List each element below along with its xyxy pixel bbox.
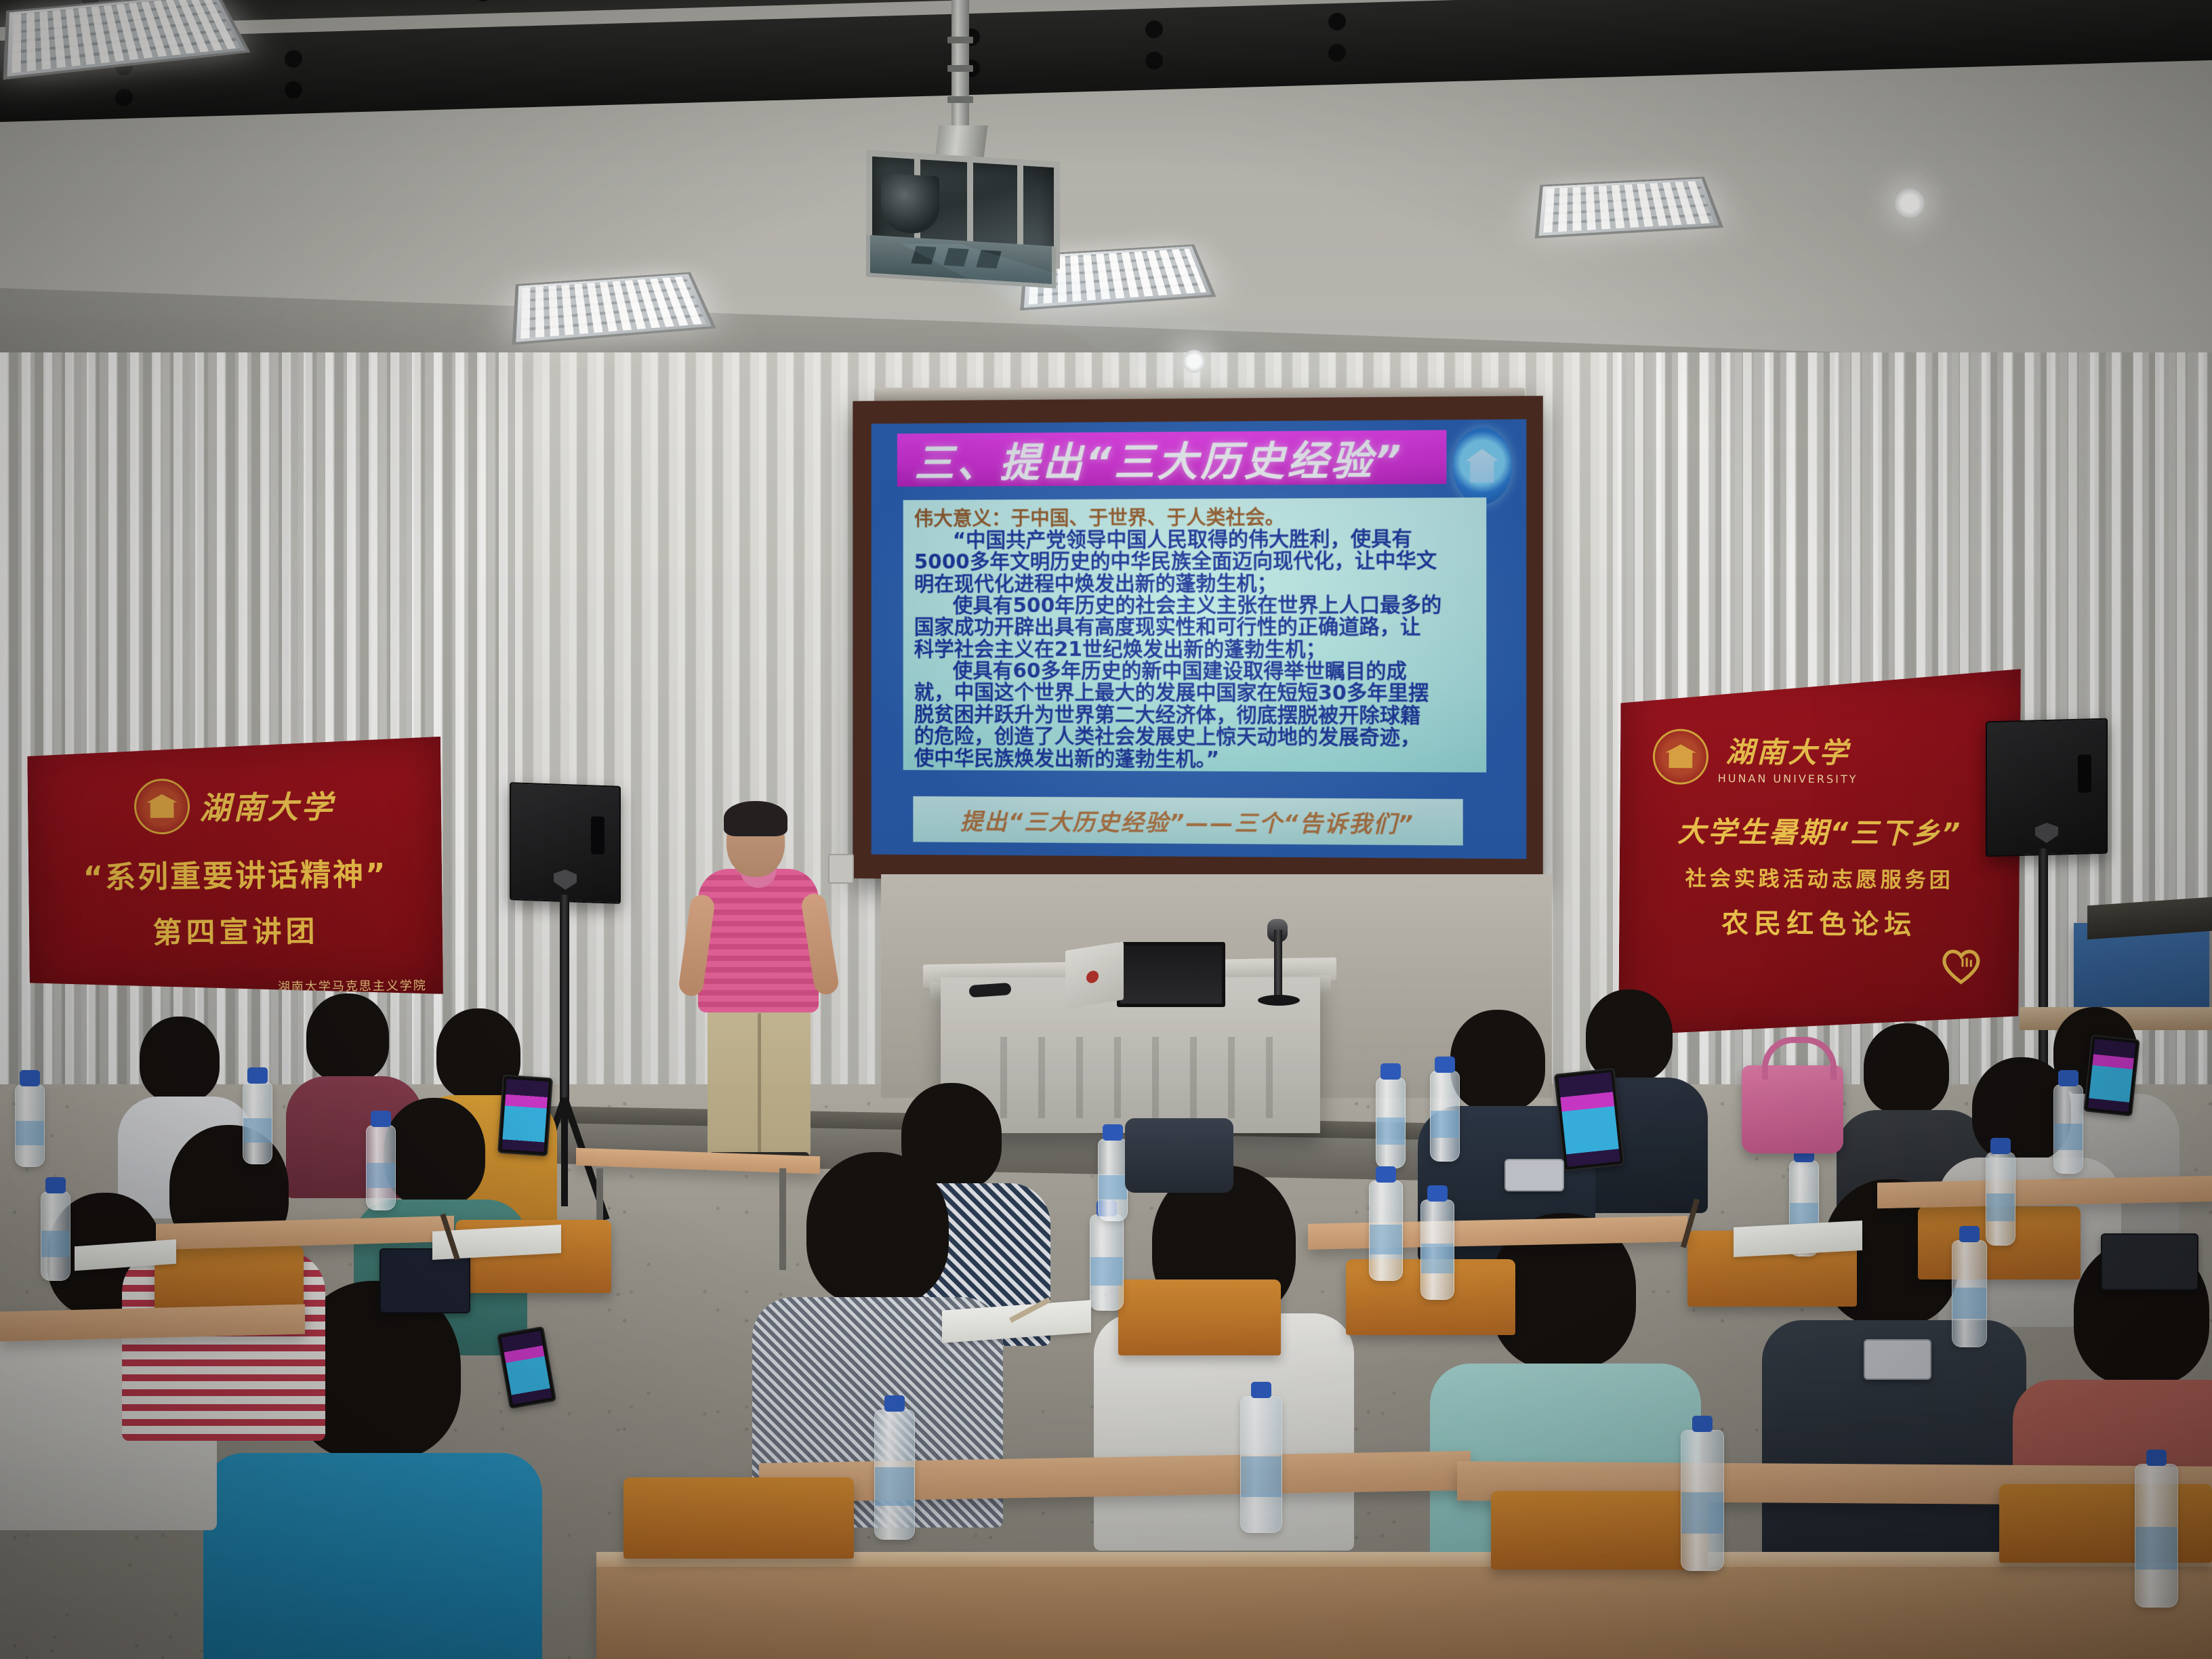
- pa-speaker: [510, 782, 621, 904]
- presenter-trousers: [708, 1004, 811, 1156]
- tripod-leg: [561, 1098, 568, 1206]
- slide-body-line: 科学社会主义在21世纪焕发出新的蓬勃生机；: [914, 639, 1475, 661]
- lecture-chair: [623, 1477, 854, 1559]
- speaker-stand-pole: [560, 895, 569, 1118]
- water-bottle: [1430, 1071, 1460, 1162]
- banner-left-line1: “系列重要讲话精神”: [28, 849, 443, 897]
- smartphone[interactable]: [2083, 1035, 2140, 1117]
- banner-right-line1: 大学生暑期“三下乡”: [1620, 808, 2020, 853]
- water-bottle: [15, 1084, 45, 1167]
- slide-body: 伟大意义：于中国、于世界、于人类社会。 “中国共产党领导中国人民取得的伟大胜利，…: [903, 497, 1486, 772]
- projected-slide: 三、提出“三大历史经验” 伟大意义：于中国、于世界、于人类社会。 “中国共产党领…: [872, 419, 1527, 859]
- slide-body-line: 5000多年文明历史的中华民族全面迈向现代化，让中华文: [914, 550, 1475, 573]
- water-bottle: [1240, 1396, 1282, 1533]
- water-bottle: [41, 1191, 70, 1281]
- tablet-device[interactable]: [2101, 1233, 2198, 1290]
- presenter-hair: [724, 801, 787, 836]
- smartphone[interactable]: [497, 1075, 553, 1157]
- smartphone[interactable]: [1504, 1159, 1564, 1191]
- volunteer-heart-hand-icon: [1939, 943, 1984, 985]
- projection-screen: 三、提出“三大历史经验” 伟大意义：于中国、于世界、于人类社会。 “中国共产党领…: [853, 396, 1543, 884]
- ceiling-downlight: [1183, 350, 1206, 373]
- water-bottle: [1376, 1078, 1406, 1168]
- banner-left-university: 湖南大学: [199, 782, 335, 828]
- slide-title-bar: 三、提出“三大历史经验”: [897, 430, 1447, 487]
- banner-right-line2: 社会实践活动志愿服务团: [1620, 861, 2020, 894]
- podium-vents: [969, 1037, 1288, 1118]
- laptop-sticker-icon: [1086, 970, 1099, 984]
- speaker-port: [591, 817, 605, 855]
- slide-body-line: 就，中国这个世界上最大的发展中国家在短短30多年里摆: [914, 682, 1475, 705]
- water-bottle: [1098, 1139, 1128, 1221]
- podium-monitor: [1117, 942, 1225, 1007]
- banner-right: 湖南大学 HUNAN UNIVERSITY 大学生暑期“三下乡” 社会实践活动志…: [1618, 666, 2021, 1038]
- smartphone[interactable]: [1554, 1068, 1625, 1172]
- slide-body-line: 的危险，创造了人类社会发展史上惊天动地的发展奇迹，: [914, 726, 1475, 750]
- slide-body-line: 伟大意义：于中国、于世界、于人类社会。: [914, 506, 1475, 531]
- banner-left-line2: 第四宣讲团: [29, 907, 443, 953]
- lecture-chair: [1118, 1279, 1281, 1355]
- gooseneck-microphone: [1274, 930, 1282, 1002]
- slide-body-line: 脱贫困并跃升为世界第二大经济体，彻底摆脱被开除球籍: [914, 704, 1475, 727]
- smartphone[interactable]: [1864, 1339, 1931, 1380]
- water-bottle: [1986, 1152, 2015, 1246]
- slide-title: 三、提出“三大历史经验”: [897, 428, 1404, 489]
- projector-mount-pole: [951, 0, 969, 136]
- slide-body-line: 使具有60多年历史的新中国建设取得举世瞩目的成: [914, 661, 1475, 683]
- slide-footer-bar: 提出“三大历史经验”——三个“告诉我们”: [913, 796, 1462, 845]
- lecture-chair: [1999, 1484, 2212, 1563]
- presenter-shirt: [698, 869, 819, 1012]
- water-bottle: [2135, 1464, 2178, 1607]
- water-bottle: [1681, 1430, 1724, 1571]
- microphone-base: [1258, 995, 1300, 1006]
- slide-footer-text: 提出“三大历史经验”——三个“告诉我们”: [960, 803, 1414, 839]
- slide-body-line: 国家成功开辟出具有高度现实性和可行性的正确道路，让: [914, 617, 1475, 639]
- speaker-brand-icon: [2035, 823, 2058, 844]
- podium-laptop: [1065, 941, 1124, 1009]
- water-bottle: [1090, 1214, 1124, 1311]
- speaker-port: [2078, 754, 2091, 793]
- water-bottle: [1952, 1240, 1987, 1347]
- hunan-university-seal-icon: [1653, 729, 1709, 785]
- wall-power-outlet: [828, 854, 854, 884]
- slide-body-line: 使中华民族焕发出新的蓬勃生机。”: [914, 747, 1475, 772]
- water-bottle: [1369, 1181, 1403, 1281]
- banner-left: 湖南大学 “系列重要讲话精神” 第四宣讲团 湖南大学马克思主义学院: [27, 737, 443, 998]
- pa-speaker: [1986, 718, 2108, 857]
- water-bottle: [243, 1082, 272, 1164]
- banner-right-line3: 农民红色论坛: [1619, 901, 2019, 943]
- slide-body-line: 明在现代化进程中焕发出新的蓬勃生机；: [914, 573, 1475, 596]
- lecture-hall-photo: 三、提出“三大历史经验” 伟大意义：于中国、于世界、于人类社会。 “中国共产党领…: [0, 0, 2212, 1659]
- speaker-brand-icon: [554, 869, 577, 890]
- slide-body-line: “中国共产党领导中国人民取得的伟大胜利，使具有: [914, 528, 1475, 552]
- hunan-university-seal-icon: [134, 779, 190, 835]
- water-bottle: [1420, 1200, 1454, 1300]
- water-bottle: [874, 1410, 915, 1540]
- backpack: [1125, 1118, 1233, 1193]
- desk-leg: [779, 1168, 786, 1270]
- water-bottle: [366, 1125, 396, 1210]
- university-crest-watermark: [1452, 427, 1511, 504]
- banner-right-university-en: HUNAN UNIVERSITY: [1718, 772, 1858, 785]
- slide-body-line: 使具有500年历史的社会主义主张在世界上人口最多的: [914, 594, 1475, 617]
- banner-right-university: 湖南大学: [1718, 729, 1858, 771]
- ceiling-downlight: [1895, 188, 1925, 218]
- projector-lens: [881, 173, 939, 235]
- desk-row: [596, 1559, 2212, 1659]
- water-bottle: [2053, 1084, 2083, 1174]
- lecture-chair: [1491, 1491, 1708, 1570]
